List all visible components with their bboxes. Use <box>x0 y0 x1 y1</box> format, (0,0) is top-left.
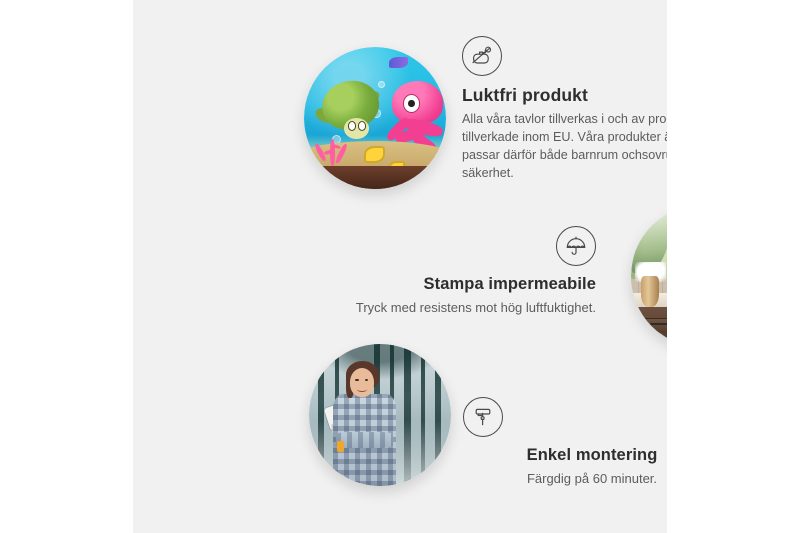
blue-fish-icon <box>389 57 407 68</box>
vanity-cabinet <box>631 307 667 347</box>
content-panel: Luktfri produkt Alla våra tavlor tillver… <box>133 0 667 533</box>
feature-body: Tryck med resistens mot hög luftfuktighe… <box>323 299 596 317</box>
turtle-eye <box>358 121 366 131</box>
vase <box>641 276 659 307</box>
bubble-icon <box>378 81 385 88</box>
paint-roller-icon <box>463 397 503 437</box>
paint-roller-grip <box>337 441 344 452</box>
seabed-rocks <box>304 166 446 189</box>
woman-smile <box>357 387 367 392</box>
feature-body: Färgdig på 60 minuter. <box>461 470 667 488</box>
umbrella-icon <box>556 226 596 266</box>
drawer-handle <box>650 323 667 325</box>
ocean-illustration <box>304 47 446 189</box>
image-ocean-scene <box>304 47 446 189</box>
bathroom-photo <box>631 205 667 347</box>
image-forest-scene <box>309 344 451 486</box>
woman-eye <box>355 379 358 382</box>
vanity-drawer <box>635 318 667 334</box>
forest-photo <box>309 344 451 486</box>
feature-title: Stampa impermeabile <box>323 275 596 294</box>
feature-title: Luktfri produkt <box>462 85 667 106</box>
promo-banner: Luktfri produkt Alla våra tavlor tillver… <box>0 0 800 533</box>
feature-waterproof: Stampa impermeabile Tryck med resistens … <box>323 226 596 317</box>
feature-easy-mounting: Enkel montering Färgdig på 60 minuter. <box>463 397 667 488</box>
image-bathroom-scene <box>631 205 667 347</box>
coral-icon <box>313 129 356 166</box>
feature-body: Alla våra tavlor tillverkas i och av pro… <box>462 111 667 183</box>
feature-title: Enkel montering <box>461 446 667 465</box>
woman-arms <box>336 432 393 448</box>
feature-odourless: Luktfri produkt Alla våra tavlor tillver… <box>462 36 667 183</box>
perfume-bottle-crossed-out-icon <box>462 36 502 76</box>
woman-face <box>350 368 374 396</box>
